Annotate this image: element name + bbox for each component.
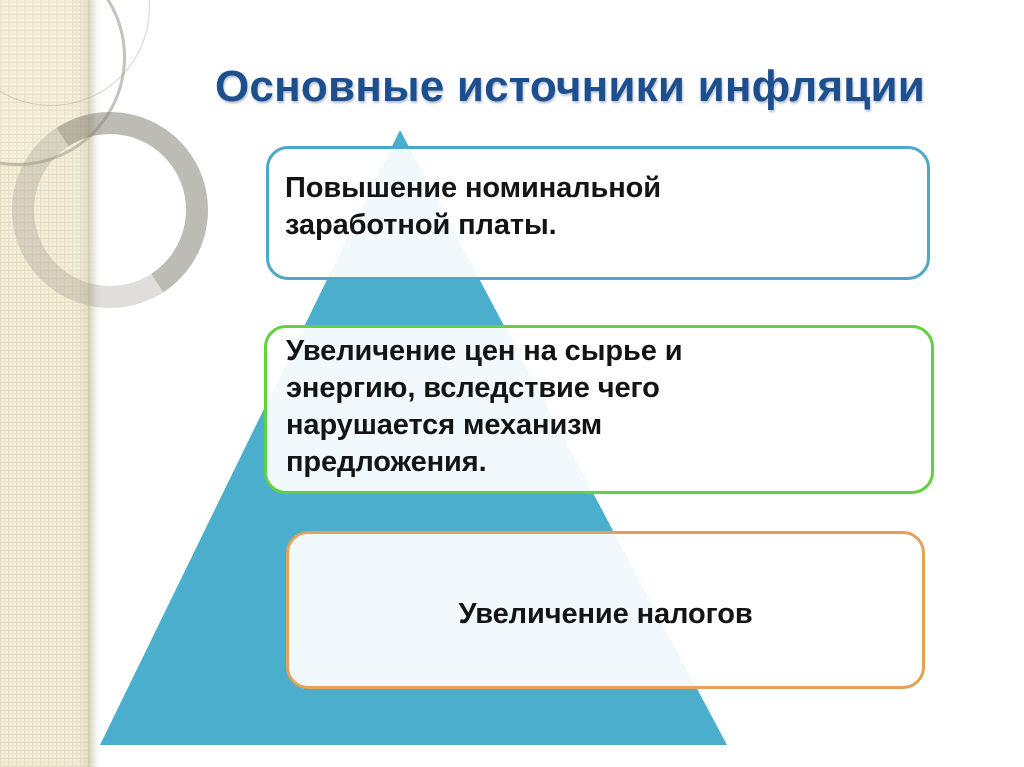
- page-title: Основные источники инфляции: [150, 62, 990, 112]
- source-box-taxes-label: Увеличение налогов: [286, 596, 925, 633]
- source-box-wage-label: Повышение номинальной заработной платы.: [285, 170, 885, 244]
- source-box-raw-materials-label: Увеличение цен на сырье и энергию, вслед…: [286, 333, 906, 481]
- slide-canvas: Основные источники инфляции Повышение но…: [0, 0, 1024, 767]
